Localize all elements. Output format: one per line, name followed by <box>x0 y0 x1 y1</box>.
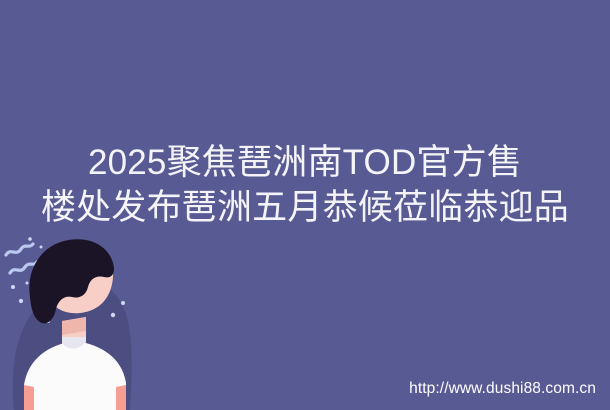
page-title: 2025聚焦琶洲南TOD官方售 楼处发布琶洲五月恭候莅临恭迎品 <box>0 140 610 230</box>
dot-icon-5 <box>19 299 23 303</box>
source-url-watermark: http://www.dushi88.com.cn <box>409 380 596 398</box>
dot-icon-9 <box>111 313 115 317</box>
squiggle-icon-1 <box>6 244 33 255</box>
article-cover-banner: 2025聚焦琶洲南TOD官方售 楼处发布琶洲五月恭候莅临恭迎品 http://w… <box>0 0 610 410</box>
title-line-2: 楼处发布琶洲五月恭候莅临恭迎品 <box>14 185 596 230</box>
dot-icon-3 <box>11 285 15 289</box>
right-arm-shape <box>116 385 126 410</box>
person-looking-up-illustration <box>0 225 160 410</box>
dot-icon-4 <box>26 282 29 285</box>
dot-icon-1 <box>28 237 32 241</box>
dot-icon-8 <box>121 301 125 305</box>
left-arm-shape <box>24 385 34 410</box>
dot-icon-2 <box>40 246 43 249</box>
title-line-1: 2025聚焦琶洲南TOD官方售 <box>14 140 596 185</box>
